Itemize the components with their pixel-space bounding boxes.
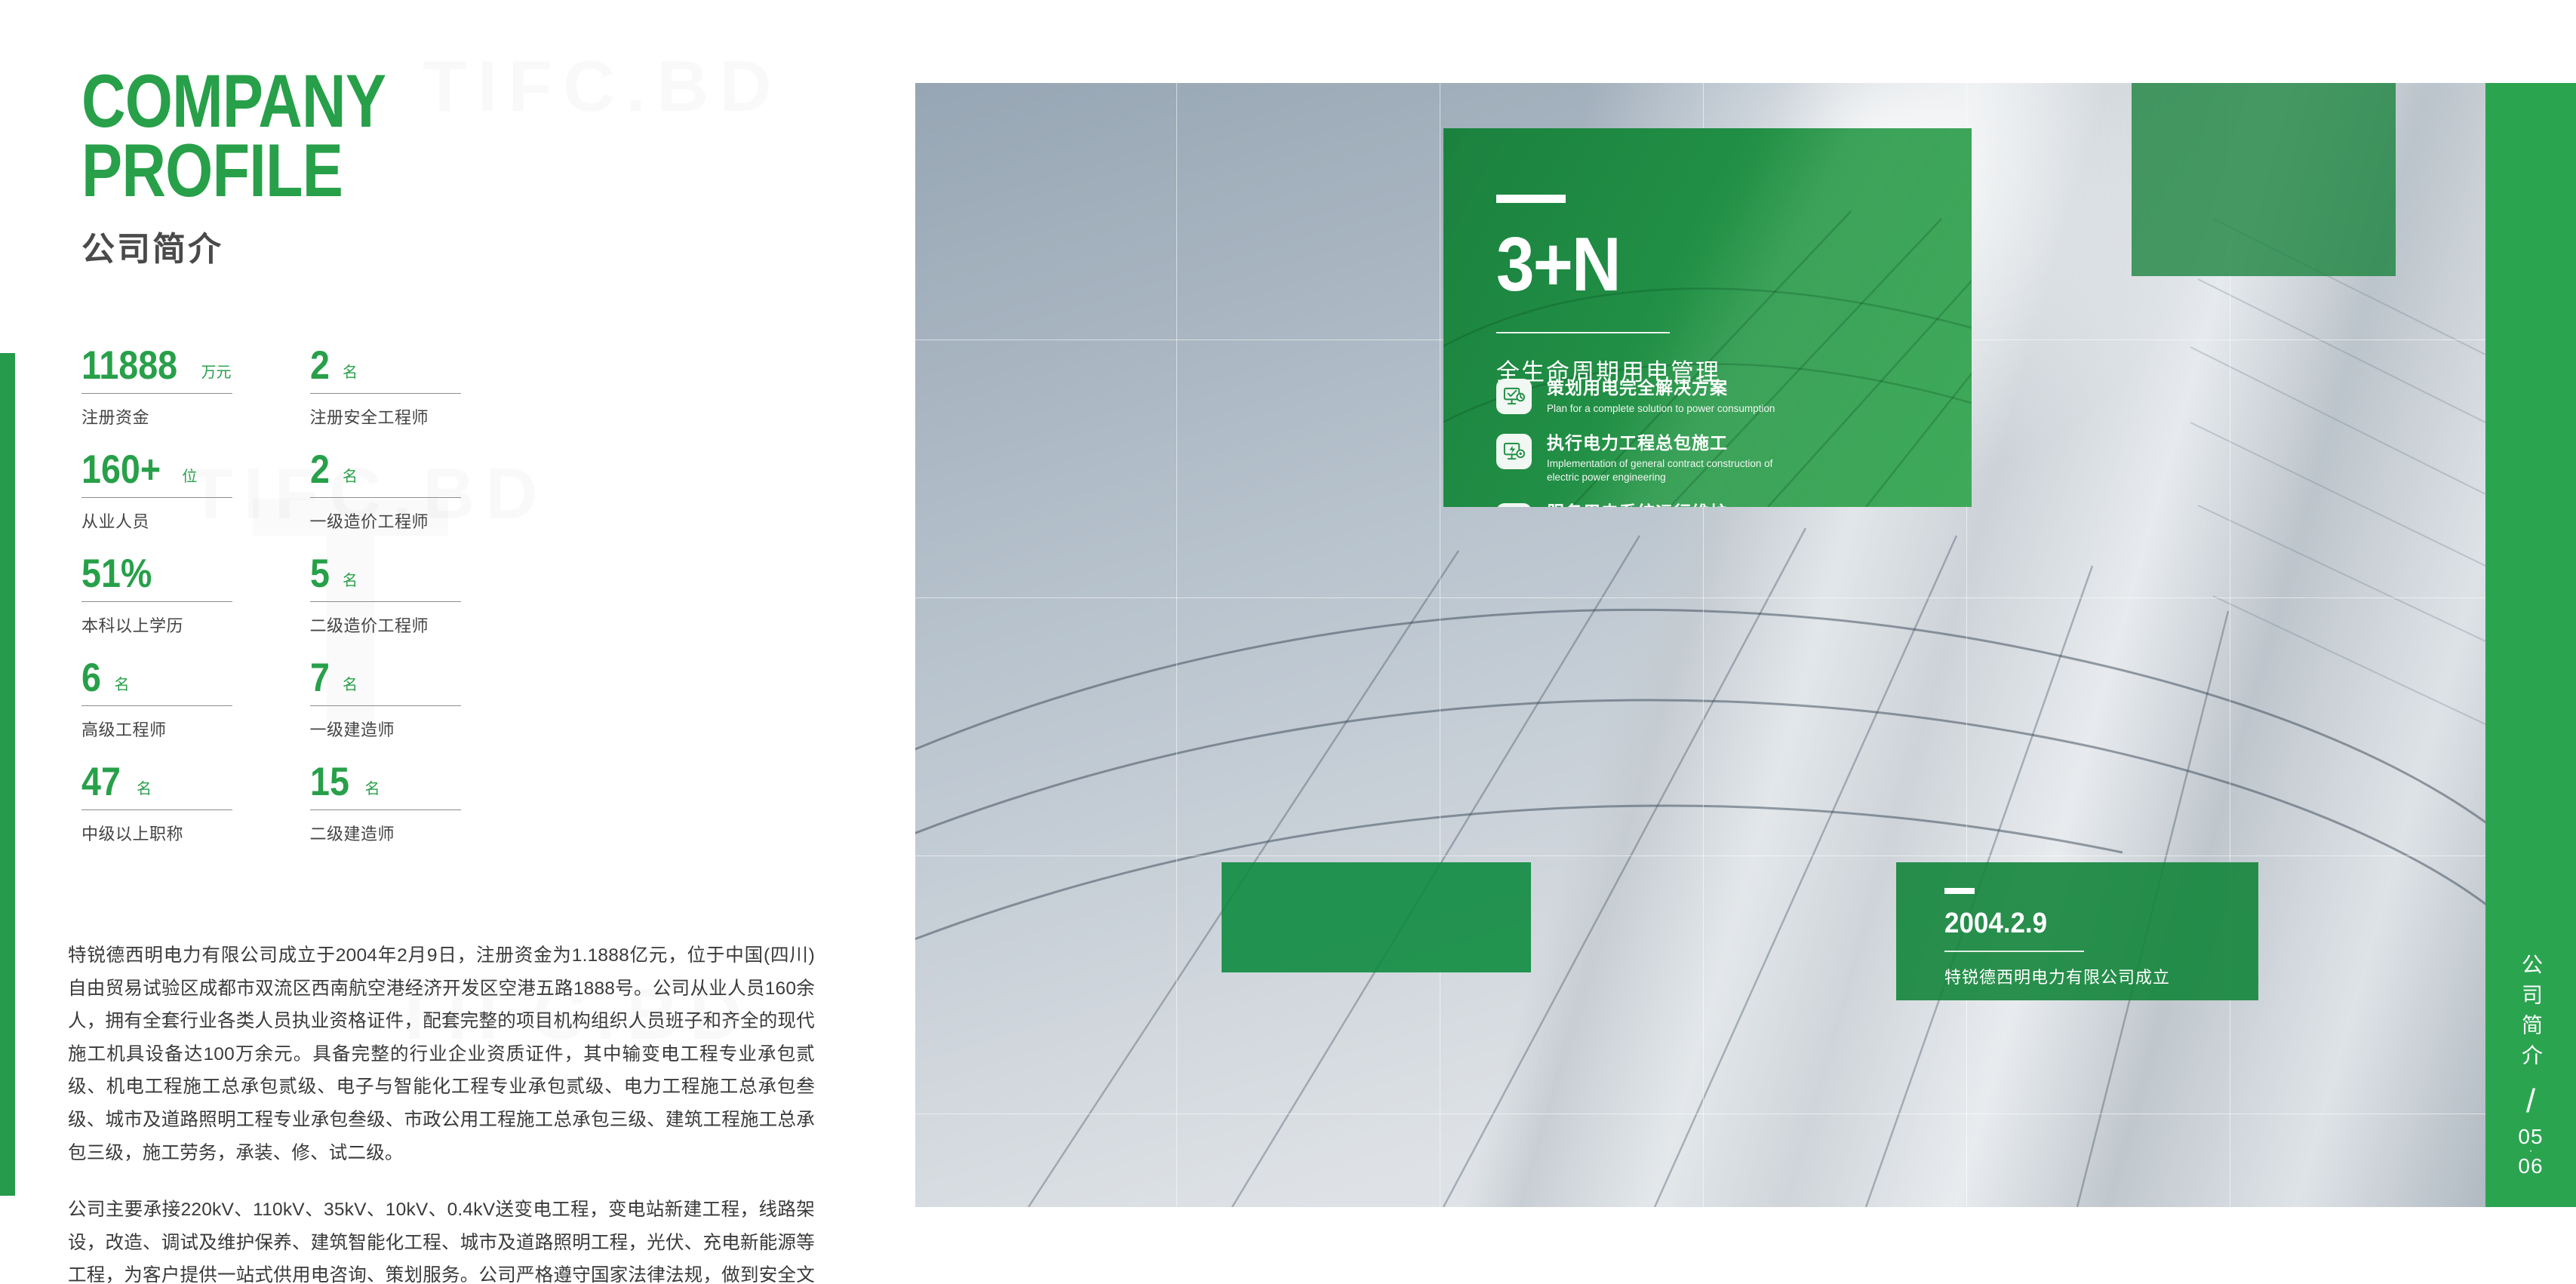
stat-rule (310, 601, 461, 602)
feature-item: 策划用电完全解决方案Plan for a complete solution t… (1496, 377, 1949, 416)
stat-unit: 名 (343, 568, 358, 590)
stat-unit: 名 (364, 776, 380, 798)
sidebar-divider-slash: / (2526, 1085, 2535, 1118)
paragraph-2: 公司主要承接220kV、110kV、35kV、10kV、0.4kV送变电工程，变… (68, 1193, 815, 1284)
stat-label: 一级建造师 (310, 717, 461, 741)
hero-image-panel: 3+N 全生命周期用电管理 策划用电完全解决方案Plan for a compl… (915, 83, 2485, 1207)
stat-unit: 名 (137, 776, 152, 798)
title-cn: 公司简介 (81, 222, 453, 270)
stat-value: 160+ (81, 450, 161, 490)
stat-rule (81, 809, 232, 810)
stat-label: 注册安全工程师 (310, 404, 461, 429)
monitor-shield-icon (1496, 503, 1532, 507)
stat-label: 从业人员 (81, 508, 232, 533)
stat-value: 7 (310, 658, 330, 698)
stat-value: 2 (310, 346, 330, 386)
date-rule (1944, 951, 2084, 952)
founding-date: 2004.2.9 (1944, 908, 2152, 940)
title-en-line2: PROFILE (81, 136, 386, 205)
stat-label: 二级造价工程师 (310, 613, 461, 637)
stat-value: 51% (81, 554, 152, 594)
stat-unit: 名 (343, 672, 358, 694)
page-title: COMPANY PROFILE 公司简介 (81, 66, 453, 270)
stat-label: 二级建造师 (310, 821, 461, 845)
feature-title-cn: 执行电力工程总包施工 (1547, 433, 1796, 454)
feature-title-en: Implementation of general contract const… (1547, 457, 1796, 485)
stat-value: 2 (310, 450, 330, 490)
stat-item: 11888万元注册资金 (81, 343, 232, 429)
card-dash (1496, 195, 1566, 203)
stat-label: 注册资金 (81, 404, 232, 429)
body-copy: 特锐德西明电力有限公司成立于2004年2月9日，注册资金为1.1888亿元，位于… (68, 939, 815, 1284)
title-en-line1: COMPANY (81, 66, 386, 136)
stat-label: 中级以上职称 (81, 821, 232, 845)
stat-label: 一级造价工程师 (310, 508, 461, 533)
monitor-bolt-icon (1496, 434, 1532, 469)
date-dash (1944, 888, 1975, 894)
card-rule (1496, 332, 1670, 333)
stat-value: 5 (310, 554, 330, 594)
green-accent-rect-top (2132, 83, 2396, 276)
founding-date-label: 特锐德西明电力有限公司成立 (1944, 964, 2170, 988)
stat-unit: 万元 (201, 360, 231, 382)
page-number-right: 06 (2518, 1155, 2543, 1177)
stat-rule (81, 601, 232, 602)
stat-value: 15 (310, 762, 349, 802)
stat-rule (310, 809, 461, 810)
service-model-card: 3+N 全生命周期用电管理 策划用电完全解决方案Plan for a compl… (1443, 128, 1972, 507)
sidebar-section-title: 公司简介 (2520, 954, 2541, 1074)
left-page: COMPANY PROFILE 公司简介 11888万元注册资金2名注册安全工程… (0, 0, 913, 1284)
feature-item: 服务用电系统运行维护Operation and maintenance of s… (1496, 502, 1949, 507)
stat-label: 本科以上学历 (81, 613, 232, 637)
stat-item: 51%本科以上学历 (81, 551, 232, 637)
sidebar-content: 公司简介 / 05 · 06 (2485, 954, 2576, 1177)
left-accent-bar (0, 353, 15, 1196)
stat-item: 2名注册安全工程师 (310, 343, 461, 429)
stat-item: 2名一级造价工程师 (310, 447, 461, 533)
stat-item: 160+位从业人员 (81, 447, 232, 533)
stat-rule (81, 705, 232, 706)
stat-item: 47名中级以上职称 (81, 760, 232, 845)
stat-item: 7名一级建造师 (310, 656, 461, 741)
stat-item: 6名高级工程师 (81, 656, 232, 741)
stat-unit: 名 (343, 360, 358, 382)
feature-item: 执行电力工程总包施工Implementation of general cont… (1496, 432, 1949, 485)
stat-value: 6 (81, 658, 101, 698)
feature-title-en: Plan for a complete solution to power co… (1547, 402, 1775, 416)
monitor-check-icon (1496, 379, 1532, 414)
feature-list: 策划用电完全解决方案Plan for a complete solution t… (1496, 377, 1949, 507)
stat-rule (310, 393, 461, 394)
green-accent-rect-bottom (1222, 862, 1531, 972)
stat-rule (310, 705, 461, 706)
right-sidebar: 公司简介 / 05 · 06 (2485, 83, 2576, 1207)
feature-title-cn: 服务用电系统运行维护 (1547, 502, 1784, 507)
feature-title-cn: 策划用电完全解决方案 (1547, 378, 1775, 399)
page-number: 05 · 06 (2518, 1126, 2543, 1177)
stat-value: 47 (81, 762, 121, 802)
card-headline: 3+N (1496, 227, 1698, 303)
stat-value: 11888 (81, 346, 177, 386)
stat-rule (310, 497, 461, 498)
stat-rule (81, 393, 232, 394)
stat-unit: 名 (114, 672, 129, 694)
stat-label: 高级工程师 (81, 717, 232, 741)
date-badge-content: 2004.2.9 特锐德西明电力有限公司成立 (1944, 888, 2170, 988)
stat-unit: 位 (182, 464, 197, 486)
paragraph-1: 特锐德西明电力有限公司成立于2004年2月9日，注册资金为1.1888亿元，位于… (68, 939, 815, 1169)
stat-item: 15名二级建造师 (310, 760, 461, 845)
founding-date-badge: 2004.2.9 特锐德西明电力有限公司成立 (1896, 862, 2258, 1000)
stat-rule (81, 497, 232, 498)
stat-item: 5名二级造价工程师 (310, 551, 461, 637)
stats-grid: 11888万元注册资金2名注册安全工程师160+位从业人员2名一级造价工程师51… (81, 343, 474, 845)
card-header: 3+N 全生命周期用电管理 (1496, 195, 1720, 387)
stat-unit: 名 (343, 464, 358, 486)
